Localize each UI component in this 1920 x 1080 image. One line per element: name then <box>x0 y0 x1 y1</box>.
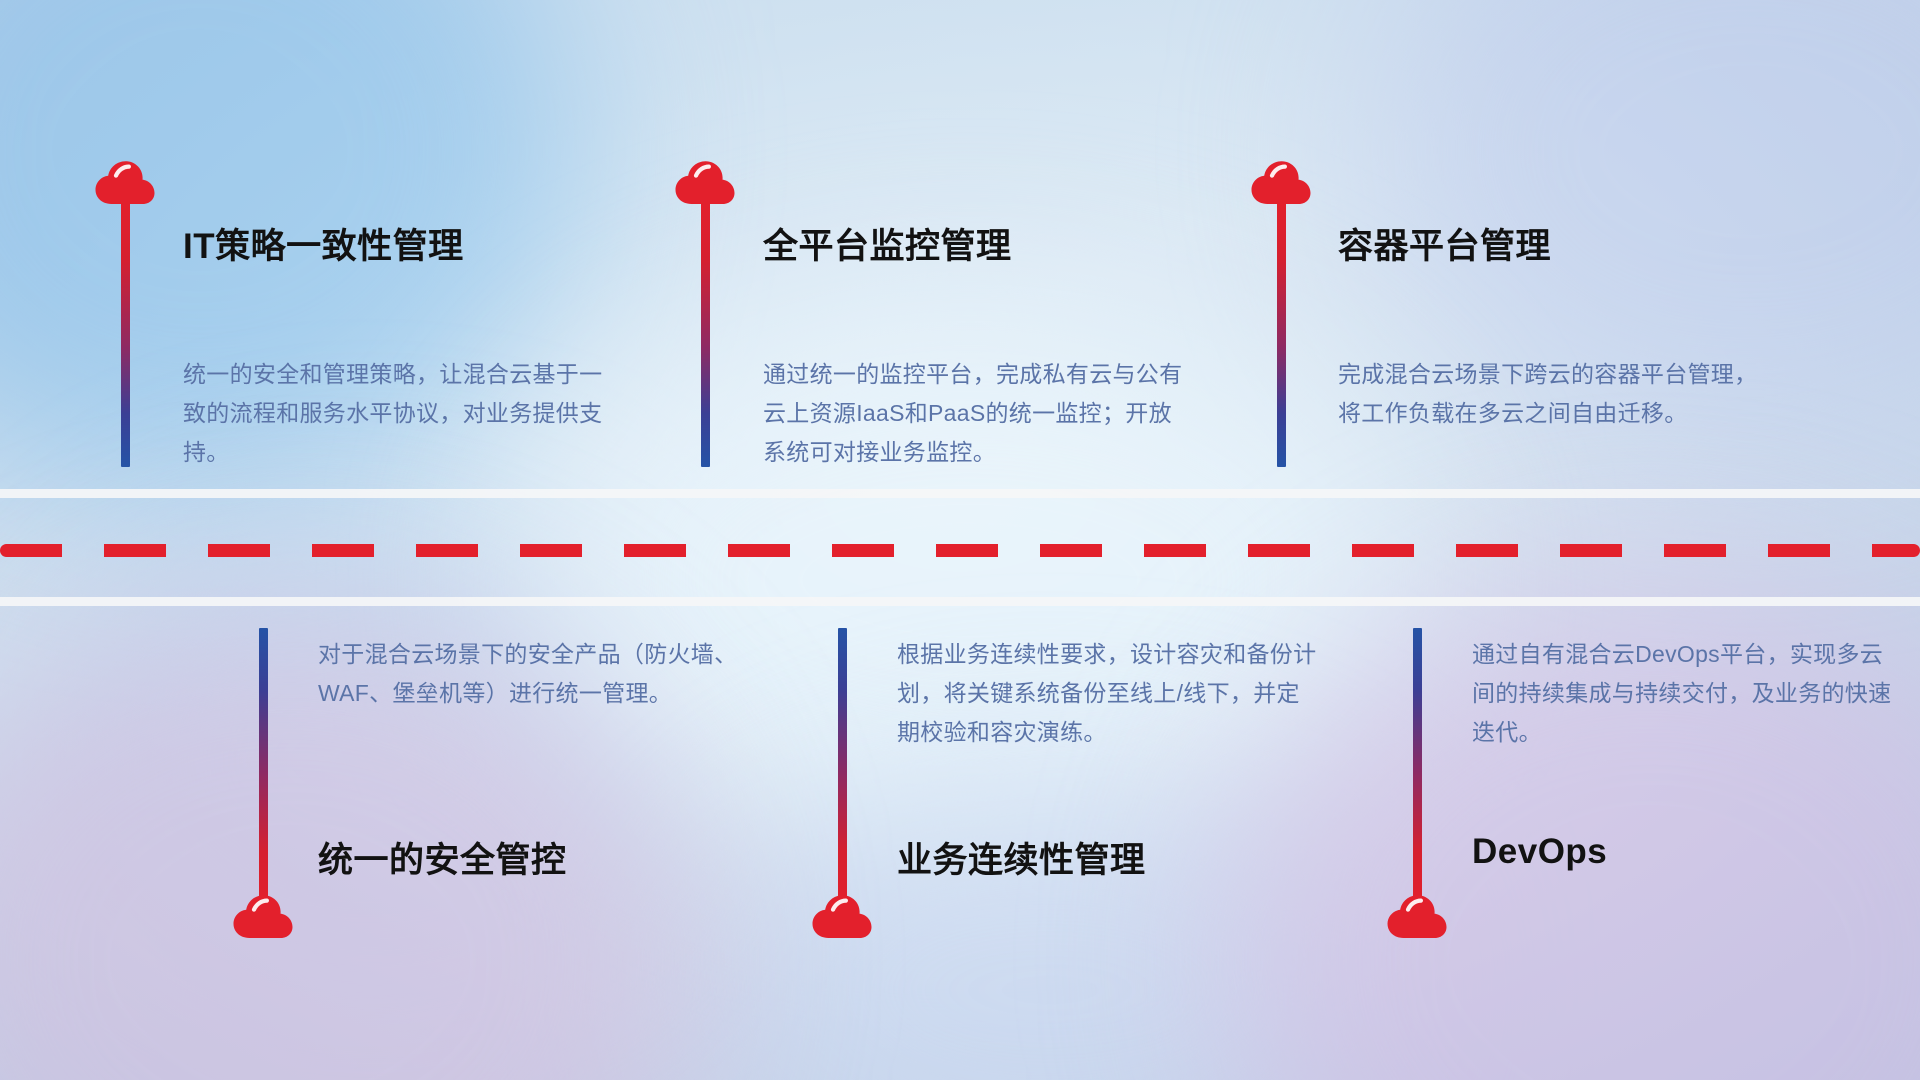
road-dashed-center-line <box>0 544 1920 557</box>
bottom-item-heading: DevOps <box>1472 832 1607 872</box>
bottom-item-body: 对于混合云场景下的安全产品（防火墙、WAF、堡垒机等）进行统一管理。 <box>318 635 738 713</box>
top-item-heading: 容器平台管理 <box>1338 218 1551 269</box>
connector-line <box>259 628 268 908</box>
cloud-icon <box>1386 894 1448 940</box>
infographic-canvas: IT策略一致性管理 统一的安全和管理策略，让混合云基于一致的流程和服务水平协议，… <box>0 0 1920 1080</box>
bottom-item-heading: 业务连续性管理 <box>897 832 1146 883</box>
road-edge-top <box>0 489 1920 498</box>
top-item-body: 通过统一的监控平台，完成私有云与公有云上资源IaaS和PaaS的统一监控；开放系… <box>763 355 1183 472</box>
cloud-icon <box>232 894 294 940</box>
road-edge-bottom <box>0 597 1920 606</box>
top-item-body: 完成混合云场景下跨云的容器平台管理，将工作负载在多云之间自由迁移。 <box>1338 355 1758 433</box>
connector-line <box>121 200 130 467</box>
top-item-heading: 全平台监控管理 <box>763 218 1012 269</box>
bottom-item-body: 通过自有混合云DevOps平台，实现多云间的持续集成与持续交付，及业务的快速迭代… <box>1472 635 1892 752</box>
top-item-body: 统一的安全和管理策略，让混合云基于一致的流程和服务水平协议，对业务提供支持。 <box>183 355 603 472</box>
connector-line <box>838 628 847 908</box>
connector-line <box>1413 628 1422 908</box>
connector-line <box>1277 200 1286 467</box>
top-item-heading: IT策略一致性管理 <box>183 218 464 269</box>
cloud-icon <box>811 894 873 940</box>
bottom-item-body: 根据业务连续性要求，设计容灾和备份计划，将关键系统备份至线上/线下，并定期校验和… <box>897 635 1317 752</box>
connector-line <box>701 200 710 467</box>
bottom-item-heading: 统一的安全管控 <box>318 832 567 883</box>
